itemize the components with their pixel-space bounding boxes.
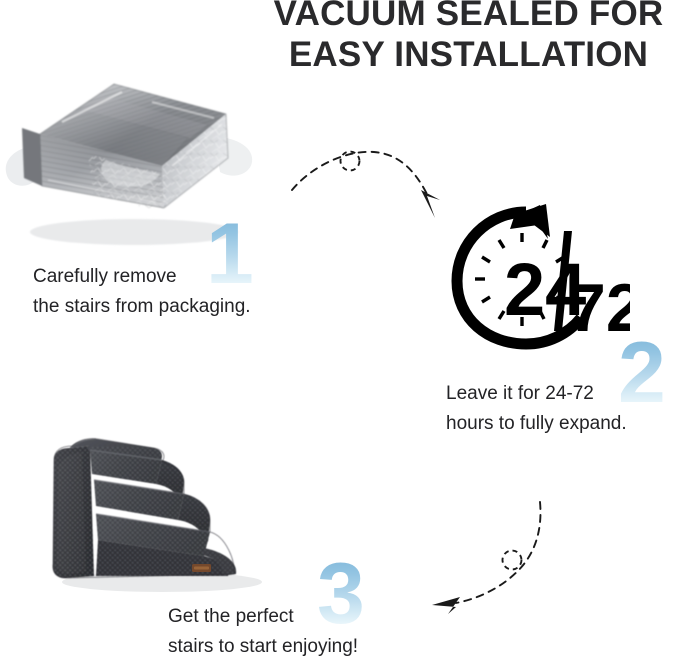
brand-logo-tag (192, 564, 211, 572)
title-line-2: EASY INSTALLATION (258, 34, 679, 75)
flow-arrow-step1-to-step2 (288, 138, 454, 230)
title-line-1: VACUUM SEALED FOR (258, 0, 679, 34)
clock-24-72-icon: 24 72 (444, 203, 630, 351)
step-3-caption-line-2: stairs to start enjoying! (168, 632, 358, 662)
step-1-caption-line-2: the stairs from packaging. (33, 292, 251, 322)
flow-arrow-step2-to-step3 (420, 498, 604, 630)
step-1-caption-line-1: Carefully remove (33, 262, 251, 292)
step-3-caption: Get the perfect stairs to start enjoying… (168, 602, 358, 662)
vacuum-sealed-installation-infographic: VACUUM SEALED FOR EASY INSTALLATION (0, 0, 679, 663)
step-2-caption-line-2: hours to fully expand. (446, 409, 627, 439)
step-3-caption-line-1: Get the perfect (168, 602, 358, 632)
pet-stairs-photo (44, 424, 274, 596)
step-2-caption: Leave it for 24-72 hours to fully expand… (446, 379, 627, 439)
step-2-caption-line-1: Leave it for 24-72 (446, 379, 627, 409)
page-title: VACUUM SEALED FOR EASY INSTALLATION (258, 0, 679, 75)
step-1-caption: Carefully remove the stairs from packagi… (33, 262, 251, 322)
